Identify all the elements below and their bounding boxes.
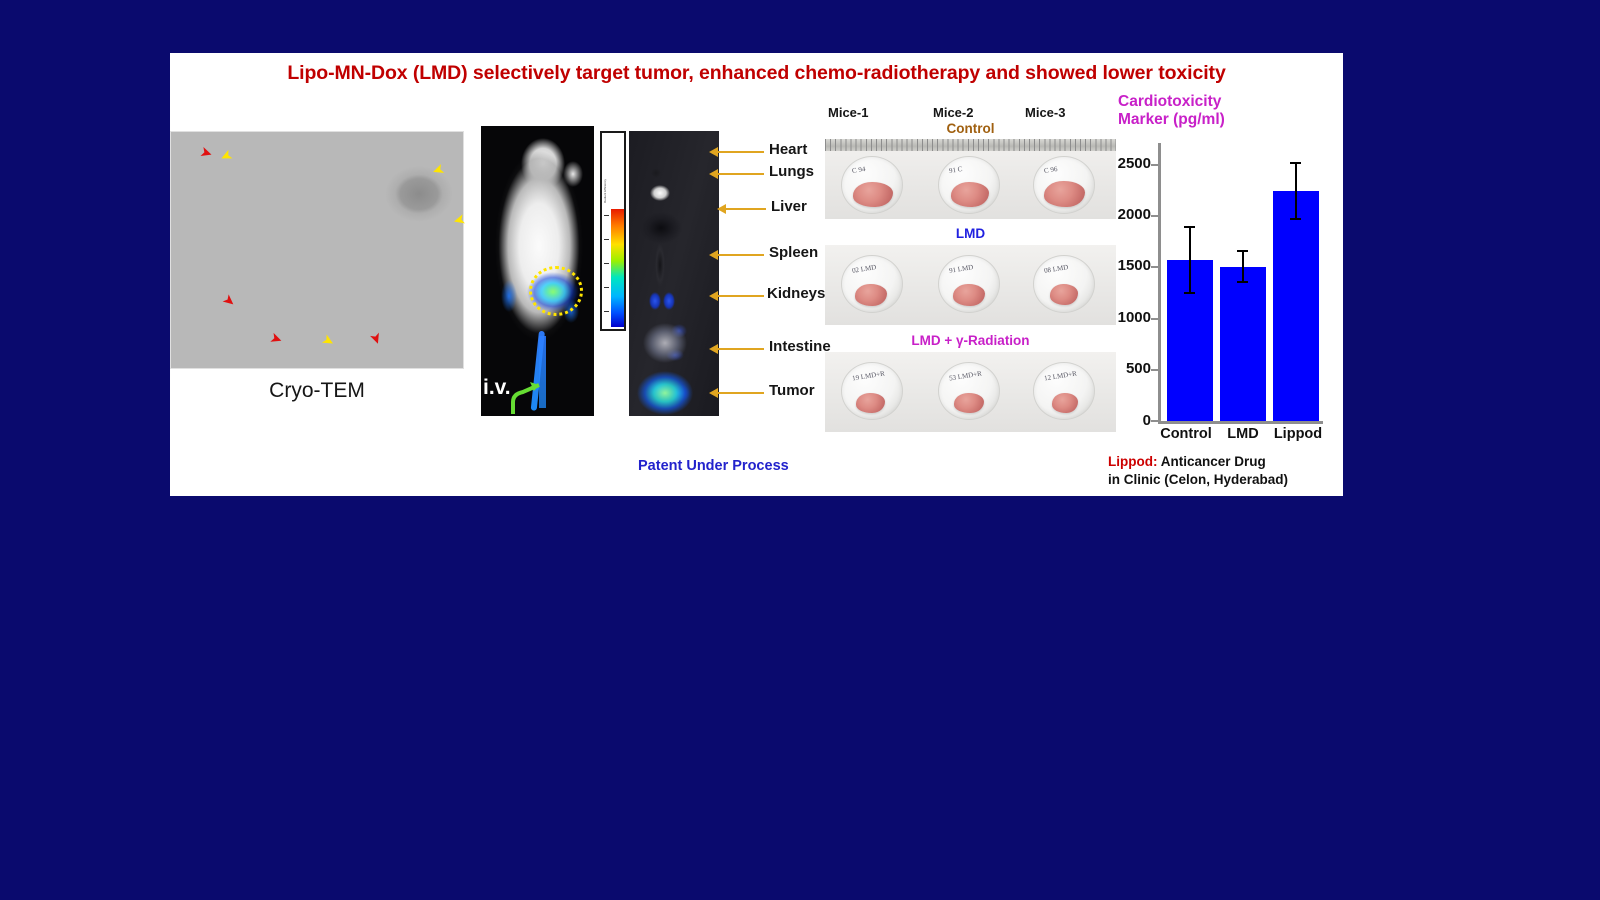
tem-red-arrow-4: ➤: [368, 331, 384, 346]
tumor-lmd-rad-2: [954, 393, 984, 413]
errorbar-lippod: [1295, 163, 1297, 219]
ruler-scale: [825, 139, 1116, 151]
chart-title-line-2: Marker (pg/ml): [1118, 111, 1225, 129]
tumor-control-3: [1044, 181, 1085, 207]
lippod-note-line-2: in Clinic (Celon, Hyderabad): [1108, 471, 1288, 489]
errorbar-lmd: [1242, 251, 1244, 282]
colorbar-gradient: [611, 209, 624, 327]
tumor-control-2: [951, 182, 989, 207]
radiance-colorbar: Radiant Efficiency: [600, 131, 626, 331]
iv-injection-arrow-icon: [509, 372, 569, 417]
dish-strip-lmd: 02 LMD 91 LMD 08 LMD: [825, 245, 1116, 325]
errorcap-lmd-top: [1237, 250, 1248, 252]
tumor-highlight-circle: [529, 266, 583, 316]
errorcap-control-bottom: [1184, 292, 1195, 294]
errorbar-control: [1189, 227, 1191, 293]
mice-header-3: Mice-3: [1025, 105, 1065, 120]
lippod-key: Lippod:: [1108, 454, 1157, 469]
tumor-lmd-3: [1050, 284, 1078, 305]
dish-lmd-3: 08 LMD: [1033, 255, 1095, 313]
dish-lmd-rad-2: 53 LMD+R: [938, 362, 1000, 420]
dish-strip-control: C 94 91 C C 96: [825, 139, 1116, 219]
tumor-lmd-1: [855, 284, 887, 306]
mouse-fluorescence-image: i.v.: [481, 126, 594, 416]
dish-id-control-2: 91 C: [948, 165, 963, 175]
x-label-lippod: Lippod: [1268, 426, 1328, 442]
chart-title: Cardiotoxicity Marker (pg/ml): [1118, 93, 1225, 130]
mice-header-1: Mice-1: [828, 105, 868, 120]
bar-lmd: [1220, 267, 1266, 421]
dish-lmd-1: 02 LMD: [841, 255, 903, 313]
dish-id-lmd-1: 02 LMD: [851, 263, 876, 275]
y-tick-2000: [1151, 215, 1158, 217]
screenshot-root: Lipo-MN-Dox (LMD) selectively target tum…: [0, 0, 1600, 900]
ex-vivo-organ-image: [629, 131, 719, 416]
y-tick-1000: [1151, 318, 1158, 320]
tem-yellow-arrow-1: ➤: [219, 148, 234, 164]
dish-lmd-2: 91 LMD: [938, 255, 1000, 313]
slide-canvas: Lipo-MN-Dox (LMD) selectively target tum…: [170, 53, 1343, 496]
tumor-lmd-rad-1: [856, 393, 885, 413]
y-label-0: 0: [1105, 412, 1151, 429]
dish-id-control-1: C 94: [851, 165, 866, 175]
group-label-lmd: LMD: [825, 226, 1116, 241]
errorcap-lmd-bottom: [1237, 281, 1248, 283]
x-label-control: Control: [1154, 426, 1218, 442]
y-label-2500: 2500: [1105, 155, 1151, 172]
y-tick-1500: [1151, 266, 1158, 268]
colorbar-tick-2: [604, 239, 609, 240]
cryo-tem-image: ➤ ➤ ➤ ➤ ➤ ➤ ➤ ➤: [170, 131, 464, 369]
colorbar-tick-1: [604, 215, 609, 216]
colorbar-tick-5: [604, 311, 609, 312]
y-tick-0: [1151, 420, 1158, 422]
dish-id-lmd-2: 91 LMD: [948, 263, 973, 275]
excised-tumor-panel: Mice-1 Mice-2 Mice-3 Control C 94 91 C C…: [820, 105, 1115, 496]
y-label-1000: 1000: [1105, 309, 1151, 326]
in-vivo-imaging-panel: i.v. Radiant Efficiency Heart: [481, 126, 811, 426]
lippod-definition: Anticancer Drug: [1157, 454, 1265, 469]
cardiotoxicity-chart-panel: Cardiotoxicity Marker (pg/ml) 0 500 1000…: [1110, 93, 1343, 493]
tem-yellow-arrow-2: ➤: [431, 163, 446, 179]
tem-yellow-arrow-4: ➤: [320, 332, 336, 349]
tem-yellow-arrow-3: ➤: [453, 213, 467, 228]
dish-control-1: C 94: [841, 156, 903, 214]
y-label-500: 500: [1105, 360, 1151, 377]
organ-label-spleen: Spleen: [769, 244, 818, 261]
chart-x-axis: [1158, 421, 1323, 424]
lippod-note: Lippod: Anticancer Drug in Clinic (Celon…: [1108, 453, 1288, 489]
tumor-lmd-2: [953, 284, 985, 306]
tem-red-arrow-1: ➤: [199, 145, 213, 161]
dish-id-lmd-rad-1: 19 LMD+R: [851, 369, 885, 382]
patent-note: Patent Under Process: [638, 458, 789, 474]
dish-id-lmd-rad-3: 12 LMD+R: [1043, 369, 1077, 382]
bar-lippod: [1273, 191, 1319, 421]
organ-label-lungs: Lungs: [769, 163, 814, 180]
dish-id-lmd-rad-2: 53 LMD+R: [948, 369, 982, 382]
colorbar-tick-3: [604, 263, 609, 264]
y-label-2000: 2000: [1105, 206, 1151, 223]
dish-id-lmd-3: 08 LMD: [1043, 263, 1068, 275]
dish-control-3: C 96: [1033, 156, 1095, 214]
x-label-lmd: LMD: [1215, 426, 1271, 442]
organ-label-tumor: Tumor: [769, 382, 815, 399]
chart-plot-area: 0 500 1000 1500 2000 2500: [1158, 143, 1323, 421]
colorbar-tick-4: [604, 287, 609, 288]
tumor-lmd-rad-3: [1052, 393, 1078, 413]
cryo-tem-panel: ➤ ➤ ➤ ➤ ➤ ➤ ➤ ➤ Cryo-TEM: [170, 131, 470, 421]
errorcap-lippod-bottom: [1290, 218, 1301, 220]
dish-strip-lmd-radiation: 19 LMD+R 53 LMD+R 12 LMD+R: [825, 352, 1116, 432]
y-tick-2500: [1151, 164, 1158, 166]
group-label-control: Control: [825, 121, 1116, 136]
cryo-tem-caption: Cryo-TEM: [170, 379, 464, 403]
tem-red-arrow-2: ➤: [221, 292, 238, 309]
slide-title: Lipo-MN-Dox (LMD) selectively target tum…: [170, 62, 1343, 85]
lippod-note-line-1: Lippod: Anticancer Drug: [1108, 453, 1288, 471]
y-tick-500: [1151, 369, 1158, 371]
tumor-control-1: [853, 182, 893, 207]
errorcap-lippod-top: [1290, 162, 1301, 164]
tem-red-arrow-3: ➤: [269, 331, 284, 347]
organ-label-kidneys: Kidneys: [767, 285, 825, 302]
colorbar-unit-text: Radiant Efficiency: [604, 141, 612, 203]
organ-label-heart: Heart: [769, 141, 807, 158]
dish-lmd-rad-1: 19 LMD+R: [841, 362, 903, 420]
chart-y-axis: [1158, 143, 1161, 421]
dish-lmd-rad-3: 12 LMD+R: [1033, 362, 1095, 420]
iv-label: i.v.: [483, 376, 511, 400]
y-label-1500: 1500: [1105, 257, 1151, 274]
organ-label-liver: Liver: [771, 198, 807, 215]
dish-id-control-3: C 96: [1043, 165, 1058, 175]
chart-title-line-1: Cardiotoxicity: [1118, 93, 1225, 111]
group-label-lmd-radiation: LMD + γ-Radiation: [825, 333, 1116, 348]
dish-control-2: 91 C: [938, 156, 1000, 214]
mice-header-2: Mice-2: [933, 105, 973, 120]
errorcap-control-top: [1184, 226, 1195, 228]
